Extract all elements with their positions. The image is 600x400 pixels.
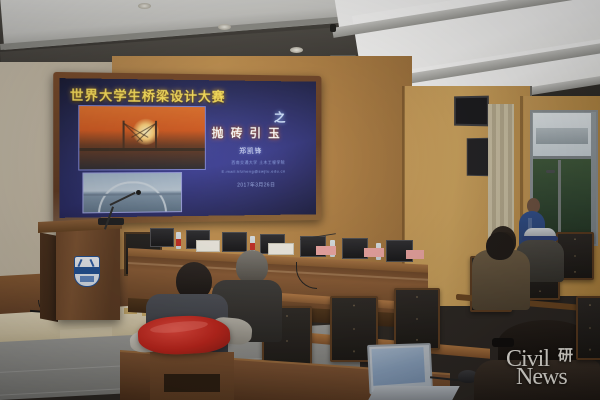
slide-presenter-name: 郑凯锋 xyxy=(239,146,262,156)
microphone-icon xyxy=(136,190,141,195)
bridge-pylon xyxy=(155,121,157,151)
wall-monitor xyxy=(454,96,489,127)
seat-monitor xyxy=(150,228,174,247)
red-banner-cloth xyxy=(137,314,231,357)
university-crest-emblem xyxy=(74,256,100,287)
wall-speaker-box xyxy=(467,138,490,176)
bridge-deck xyxy=(79,148,205,151)
watermark-news: News xyxy=(516,364,567,391)
slide-email: E-mail:kfzheng@swjtu.edu.cn xyxy=(222,169,286,174)
laptop-screen[interactable] xyxy=(371,347,425,386)
crest-detail xyxy=(77,259,82,267)
window-building-view xyxy=(536,128,588,144)
bridge-arch xyxy=(98,181,167,213)
crest-detail xyxy=(89,259,94,267)
window-divider xyxy=(558,160,561,242)
ceiling-sensor-icon xyxy=(330,24,336,32)
cabinet-opening xyxy=(164,374,220,392)
audience-head xyxy=(236,250,268,284)
slide-title: 世界大学生桥梁设计大赛 xyxy=(70,84,308,106)
chair-studs xyxy=(396,290,438,348)
downlight-icon xyxy=(290,47,303,53)
name-card xyxy=(196,240,220,252)
name-card xyxy=(406,250,424,259)
name-card xyxy=(364,248,384,257)
laptop-keyboard[interactable] xyxy=(368,386,459,400)
crest-base xyxy=(80,276,94,282)
name-card xyxy=(268,243,294,255)
water-bottle xyxy=(176,232,181,249)
downlight-icon xyxy=(218,24,231,30)
projection-screen: 世界大学生桥梁设计大赛 之 抛 砖 引 玉 郑凯锋 西南交通大学 土木工程学院 … xyxy=(60,78,316,218)
audience-chair xyxy=(394,288,440,350)
name-card xyxy=(316,246,336,255)
slide-date: 2017年3月26日 xyxy=(237,181,275,188)
window-handle[interactable] xyxy=(546,170,555,173)
downlight-icon xyxy=(138,3,151,9)
slide-zhi-char: 之 xyxy=(274,109,285,126)
bottle-label xyxy=(176,239,181,246)
seat-monitor xyxy=(222,232,247,252)
crest-band xyxy=(75,267,99,274)
conference-hall-photo: 世界大学生桥梁设计大赛 之 抛 砖 引 玉 郑凯锋 西南交通大学 土木工程学院 … xyxy=(0,0,600,400)
slide-subtitle: 抛 砖 引 玉 xyxy=(212,124,282,141)
watermark: Civil 研 News xyxy=(506,346,598,396)
slide-affiliation: 西南交通大学 土木工程学院 xyxy=(231,160,285,166)
podium-control-panel[interactable] xyxy=(98,218,124,225)
watermark-cn-mark: 研 xyxy=(558,344,573,365)
bottle-label xyxy=(250,243,255,250)
audience-head xyxy=(486,232,514,260)
slide-photo-sunset-bridge xyxy=(78,105,206,170)
